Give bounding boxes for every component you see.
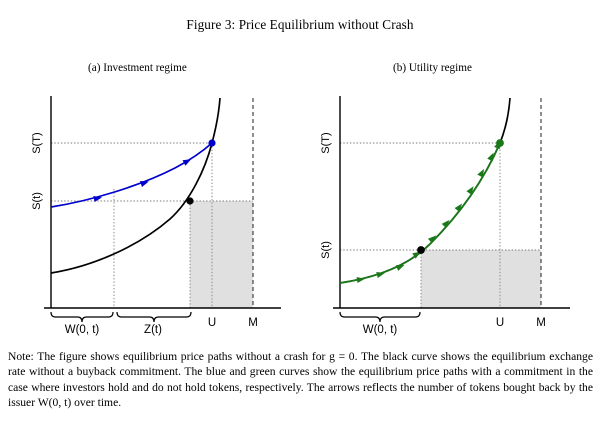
panel-a-brace-W0t: [51, 312, 113, 322]
panel-b-xlabel-M: M: [536, 317, 546, 329]
panel-b-green-dot: [496, 139, 504, 147]
panel-a-ylabel-ST: S(T): [31, 132, 43, 153]
panel-a-shaded-region: [190, 201, 253, 308]
note-body: The figure shows equilibrium price paths…: [8, 350, 593, 409]
panel-a-brace-label-Zt: Z(t): [144, 324, 162, 336]
panel-a-black-dot: [186, 197, 193, 204]
figure-note: Note: The figure shows equilibrium price…: [8, 349, 593, 411]
panel-a-xlabel-M: M: [248, 317, 258, 329]
panel-a-blue-dot: [208, 139, 215, 146]
panel-a-xlabel-U: U: [208, 317, 216, 329]
panel-b-brace-W0t: [340, 312, 420, 322]
figure-container: Figure 3: Price Equilibrium without Cras…: [0, 0, 600, 428]
panel-b-plot: S(T) S(t) U M W(0, t): [320, 96, 570, 336]
panel-a-brace-label-W0t: W(0, t): [65, 324, 100, 336]
note-lead: Note:: [8, 350, 34, 363]
panel-a-ylabel-St: S(t): [31, 192, 43, 210]
panel-b-ylabel-ST: S(T): [320, 132, 332, 153]
panel-b-ylabel-St: S(t): [320, 241, 332, 259]
plot-area: S(T) S(t) U M W(0, t) Z(t): [0, 0, 600, 348]
panel-a-blue-arrowheads: [93, 156, 192, 202]
panel-b-black-dot: [417, 246, 425, 254]
panel-a-brace-Zt: [117, 312, 191, 322]
panel-a-plot: S(T) S(t) U M W(0, t) Z(t): [31, 96, 281, 336]
panel-b-xlabel-U: U: [496, 317, 504, 329]
panel-b-shaded-region: [421, 250, 541, 308]
panel-b-brace-label-W0t: W(0, t): [363, 324, 398, 336]
